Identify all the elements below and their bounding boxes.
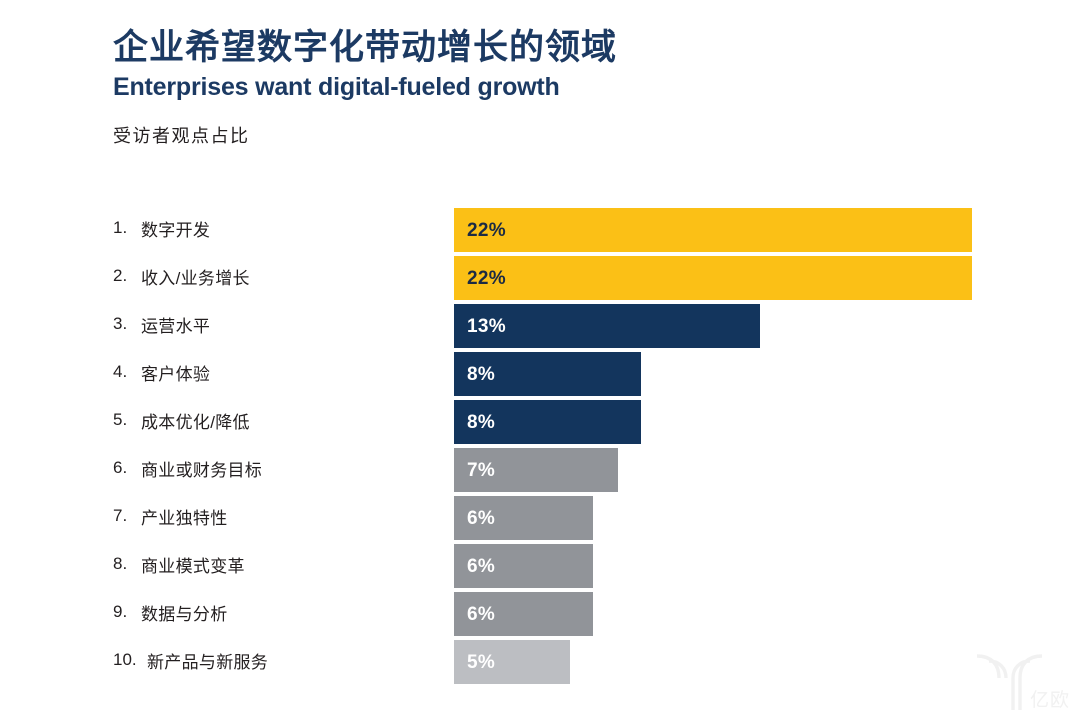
bar: 8% [454, 352, 641, 396]
bar-row: 1.数字开发22% [0, 206, 1080, 254]
bar-row: 10.新产品与新服务5% [0, 638, 1080, 686]
bar: 22% [454, 256, 972, 300]
category-name: 产业独特性 [141, 504, 228, 529]
category-name: 数据与分析 [141, 600, 228, 625]
bar-track: 8% [454, 352, 641, 396]
category-name: 成本优化/降低 [141, 408, 250, 433]
category-name: 商业模式变革 [141, 552, 245, 577]
bar-track: 13% [454, 304, 760, 348]
bar-track: 5% [454, 640, 570, 684]
bar: 22% [454, 208, 972, 252]
category-rank: 1. [113, 218, 139, 238]
bar-track: 7% [454, 448, 618, 492]
category-name: 商业或财务目标 [141, 456, 262, 481]
category-rank: 4. [113, 362, 139, 382]
bar-value-label: 6% [454, 557, 495, 576]
category-label: 1.数字开发 [113, 206, 210, 250]
bar-value-label: 7% [454, 461, 495, 480]
bar-value-label: 22% [454, 221, 506, 240]
page-title-english: Enterprises want digital-fueled growth [113, 72, 873, 102]
category-rank: 5. [113, 410, 139, 430]
category-rank: 7. [113, 506, 139, 526]
category-label: 6.商业或财务目标 [113, 446, 262, 490]
bar-row: 6.商业或财务目标7% [0, 446, 1080, 494]
category-name: 数字开发 [141, 216, 210, 241]
category-rank: 3. [113, 314, 139, 334]
category-label: 5.成本优化/降低 [113, 398, 250, 442]
category-label: 9.数据与分析 [113, 590, 228, 634]
bar-row: 2.收入/业务增长22% [0, 254, 1080, 302]
watermark-text: 亿欧 [1030, 691, 1070, 710]
bar-row: 3.运营水平13% [0, 302, 1080, 350]
page-title-chinese: 企业希望数字化带动增长的领域 [113, 28, 873, 68]
bar-value-label: 5% [454, 653, 495, 672]
category-label: 8.商业模式变革 [113, 542, 245, 586]
bar-value-label: 6% [454, 509, 495, 528]
bar-value-label: 13% [454, 317, 506, 336]
category-rank: 9. [113, 602, 139, 622]
bar-value-label: 6% [454, 605, 495, 624]
category-rank: 6. [113, 458, 139, 478]
bar-row: 9.数据与分析6% [0, 590, 1080, 638]
slide-canvas: 企业希望数字化带动增长的领域 Enterprises want digital-… [0, 0, 1080, 718]
category-label: 10.新产品与新服务 [113, 638, 268, 682]
category-label: 7.产业独特性 [113, 494, 228, 538]
category-name: 收入/业务增长 [141, 264, 250, 289]
bar-track: 6% [454, 592, 593, 636]
category-label: 3.运营水平 [113, 302, 210, 346]
category-name: 客户体验 [141, 360, 210, 385]
bar: 6% [454, 592, 593, 636]
chart-header: 企业希望数字化带动增长的领域 Enterprises want digital-… [113, 28, 873, 148]
bar-track: 22% [454, 208, 972, 252]
bar: 7% [454, 448, 618, 492]
bar: 6% [454, 496, 593, 540]
category-label: 4.客户体验 [113, 350, 210, 394]
bar-value-label: 8% [454, 413, 495, 432]
bar-row: 8.商业模式变革6% [0, 542, 1080, 590]
chart-subtitle: 受访者观点占比 [113, 122, 873, 148]
category-rank: 2. [113, 266, 139, 286]
category-rank: 8. [113, 554, 139, 574]
horizontal-bar-chart: 1.数字开发22%2.收入/业务增长22%3.运营水平13%4.客户体验8%5.… [0, 206, 1080, 686]
bar-value-label: 8% [454, 365, 495, 384]
bar-value-label: 22% [454, 269, 506, 288]
category-name: 新产品与新服务 [147, 648, 268, 673]
bar: 8% [454, 400, 641, 444]
bar-row: 4.客户体验8% [0, 350, 1080, 398]
category-name: 运营水平 [141, 312, 210, 337]
bar: 6% [454, 544, 593, 588]
bar: 13% [454, 304, 760, 348]
bar-track: 8% [454, 400, 641, 444]
category-rank: 10. [113, 650, 145, 670]
bar-track: 6% [454, 544, 593, 588]
category-label: 2.收入/业务增长 [113, 254, 250, 298]
bar-row: 5.成本优化/降低8% [0, 398, 1080, 446]
bar-track: 22% [454, 256, 972, 300]
bar-row: 7.产业独特性6% [0, 494, 1080, 542]
bar-track: 6% [454, 496, 593, 540]
bar: 5% [454, 640, 570, 684]
